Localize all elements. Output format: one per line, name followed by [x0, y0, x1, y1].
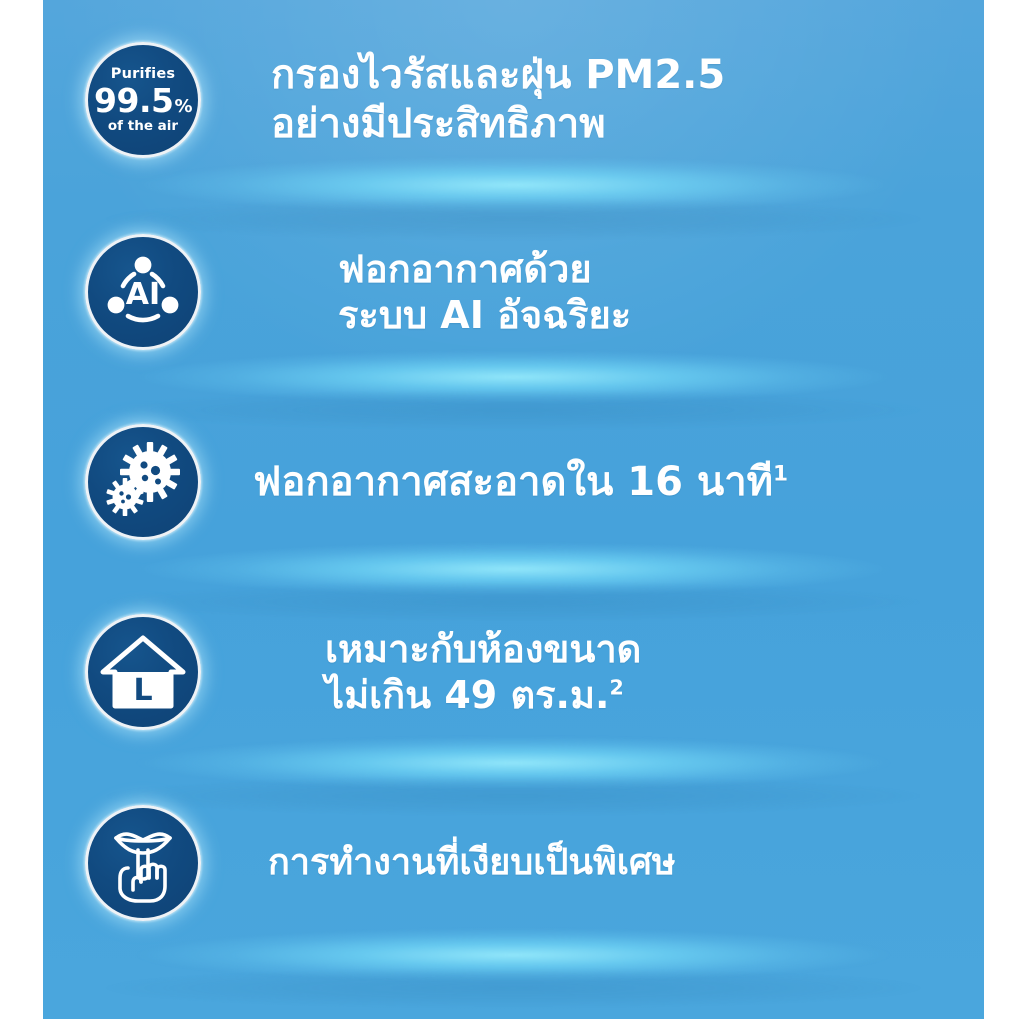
badge-wrap-quiet	[43, 805, 243, 921]
feature-row-room-size: L เหมาะกับห้องขนาด ไม่เกิน 49 ตร.ม.2	[43, 612, 984, 732]
feature-row-quiet: การทำงานที่เงียบเป็นพิเศษ	[43, 803, 984, 923]
feature-line: เหมาะกับห้องขนาด	[325, 626, 944, 672]
badge-wrap-virus	[43, 424, 243, 540]
virus-germ-icon	[85, 424, 201, 540]
divider-glow-1	[43, 150, 984, 220]
divider-shadow-5	[43, 966, 984, 1010]
feature-line: ฟอกอากาศสะอาดใน 16 นาที1	[253, 458, 944, 507]
feature-line-text: ไม่เกิน 49 ตร.ม.	[325, 673, 609, 717]
badge-wrap-purify: Purifies 99.5% of the air	[43, 42, 243, 158]
feature-row-speed: ฟอกอากาศสะอาดใน 16 นาที1	[43, 422, 984, 542]
divider-glow-3	[43, 536, 984, 602]
footnote-marker: 2	[609, 675, 623, 699]
badge-wrap-ai: AI	[43, 234, 243, 350]
svg-text:AI: AI	[126, 277, 160, 312]
purify-badge-bottom-label: of the air	[108, 120, 178, 134]
feature-line: ฟอกอากาศด้วย	[338, 246, 944, 292]
feature-text-speed: ฟอกอากาศสะอาดใน 16 นาที1	[243, 458, 984, 507]
feature-line: อย่างมีประสิทธิภาพ	[271, 100, 944, 149]
feature-text-ai: ฟอกอากาศด้วย ระบบ AI อัจฉริยะ	[243, 246, 984, 339]
ai-network-glyph: AI	[101, 250, 185, 334]
quiet-shush-icon	[85, 805, 201, 921]
footnote-marker: 1	[773, 461, 788, 486]
feature-line: การทำงานที่เงียบเป็นพิเศษ	[268, 841, 944, 885]
virus-germ-glyph	[100, 439, 186, 525]
feature-line-text: ฟอกอากาศสะอาดใน 16 นาที	[253, 459, 773, 505]
svg-text:L: L	[133, 673, 152, 708]
purify-badge-number: 99.5	[94, 84, 173, 117]
house-large-room-icon: L	[85, 614, 201, 730]
badge-wrap-house: L	[43, 614, 243, 730]
divider-glow-4	[43, 730, 984, 796]
house-glyph: L	[99, 632, 187, 712]
feature-text-quiet: การทำงานที่เงียบเป็นพิเศษ	[243, 841, 984, 885]
blue-feature-panel: Purifies 99.5% of the air กรองไวรัสและฝุ…	[43, 0, 984, 1019]
feature-text-room-size: เหมาะกับห้องขนาด ไม่เกิน 49 ตร.ม.2	[243, 626, 984, 719]
feature-row-filtration: Purifies 99.5% of the air กรองไวรัสและฝุ…	[43, 40, 984, 160]
purify-percentage-badge: Purifies 99.5% of the air	[85, 42, 201, 158]
shush-gesture-glyph	[102, 820, 184, 906]
product-feature-infographic: Purifies 99.5% of the air กรองไวรัสและฝุ…	[0, 0, 1024, 1024]
feature-row-ai: AI ฟอกอากาศด้วย ระบบ AI อัจฉริยะ	[43, 232, 984, 352]
feature-text-filtration: กรองไวรัสและฝุ่น PM2.5 อย่างมีประสิทธิภา…	[243, 51, 984, 149]
purify-badge-percent: %	[174, 98, 192, 116]
feature-line: กรองไวรัสและฝุ่น PM2.5	[271, 51, 944, 100]
ai-network-icon: AI	[85, 234, 201, 350]
divider-glow-2	[43, 344, 984, 410]
purify-badge-value: 99.5%	[94, 84, 192, 117]
purify-badge-top-label: Purifies	[111, 67, 175, 82]
feature-line: ระบบ AI อัจฉริยะ	[338, 292, 944, 338]
divider-glow-5	[43, 922, 984, 988]
feature-line: ไม่เกิน 49 ตร.ม.2	[325, 672, 944, 718]
